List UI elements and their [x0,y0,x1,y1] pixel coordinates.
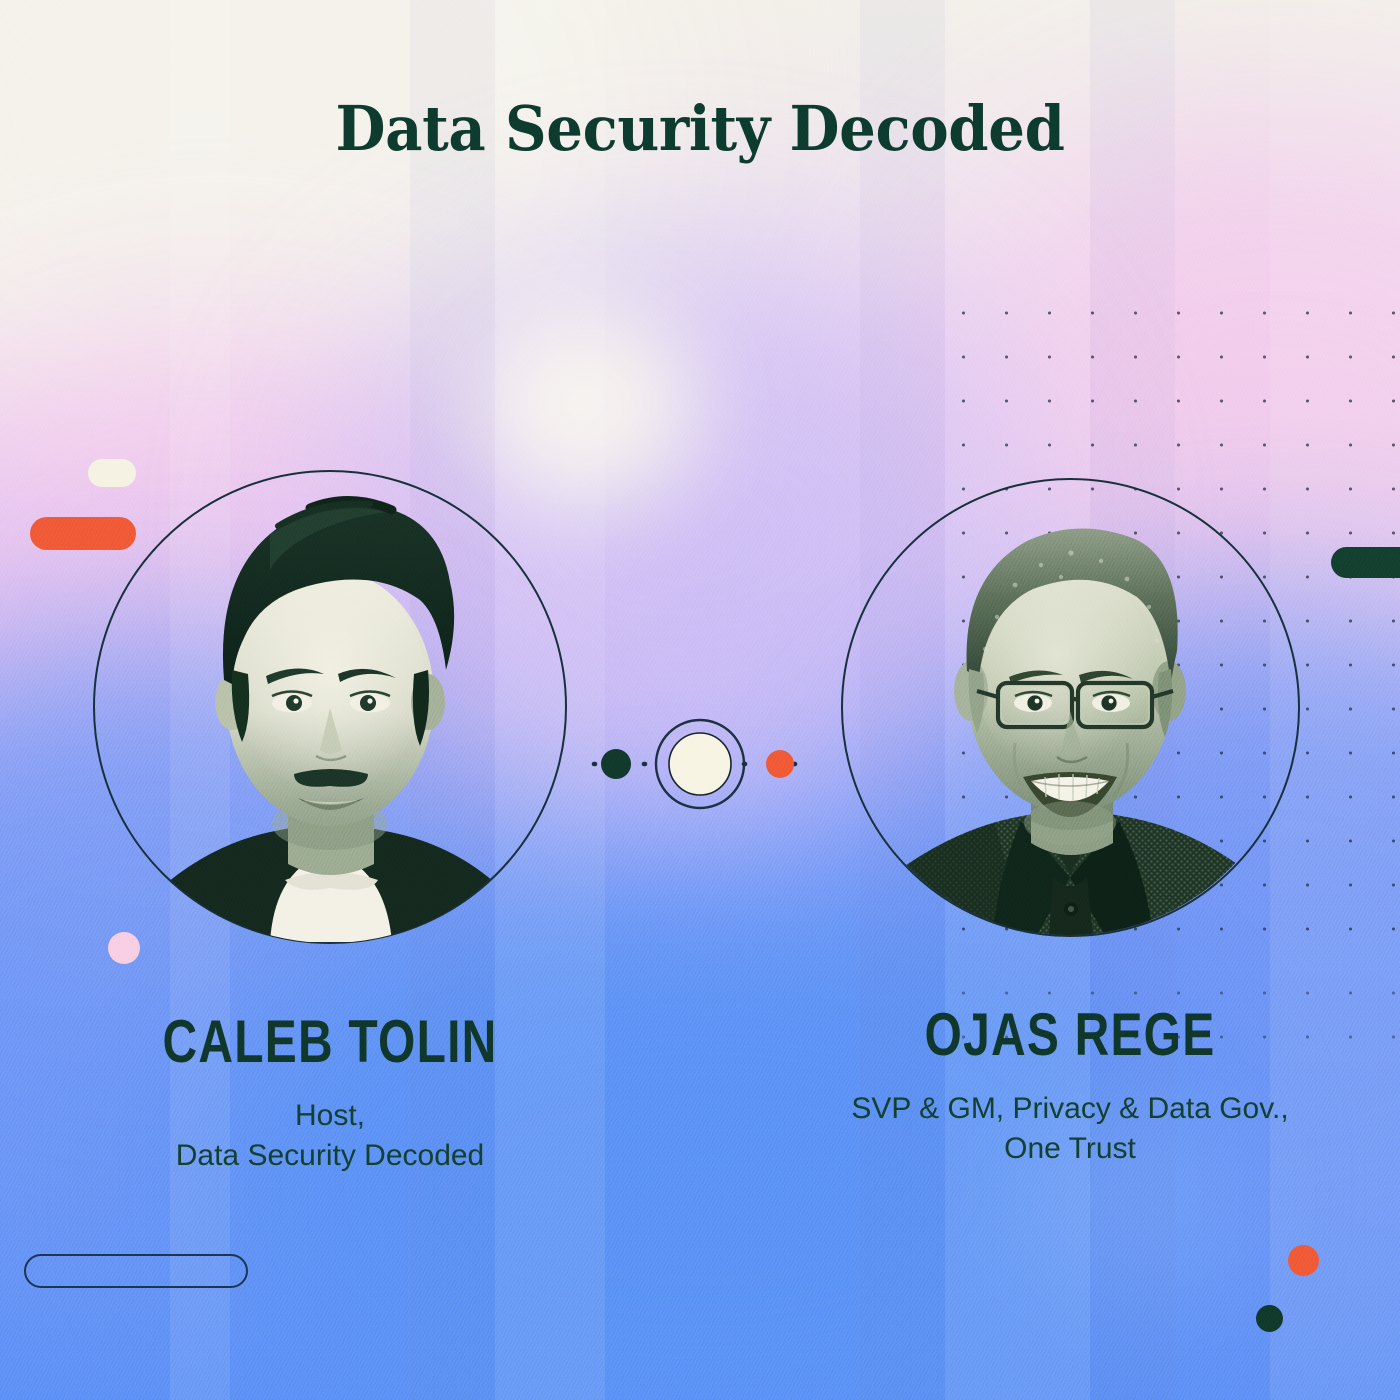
speaker-name: CALEB TOLIN [106,1012,554,1072]
decor-pill-outline [24,1254,248,1288]
decor-dot-green [1256,1305,1283,1332]
ojas-rege-portrait [865,425,1275,935]
caleb-tolin-portrait [120,412,540,942]
speaker-role: SVP & GM, Privacy & Data Gov., One Trust [790,1089,1350,1169]
speaker-role: Host, Data Security Decoded [50,1096,610,1176]
page-title: Data Security Decoded [49,92,1351,165]
speaker-card-caleb-tolin: CALEB TOLIN Host, Data Security Decoded [50,470,610,1176]
speaker-card-ojas-rege: OJAS REGE SVP & GM, Privacy & Data Gov.,… [790,470,1350,1169]
portrait-ring-right [841,478,1300,937]
portrait-ring-left [93,470,567,944]
decor-dot-orange [1288,1245,1319,1276]
promo-graphic: Data Security Decoded [0,0,1400,1400]
speaker-name: OJAS REGE [846,1005,1294,1065]
